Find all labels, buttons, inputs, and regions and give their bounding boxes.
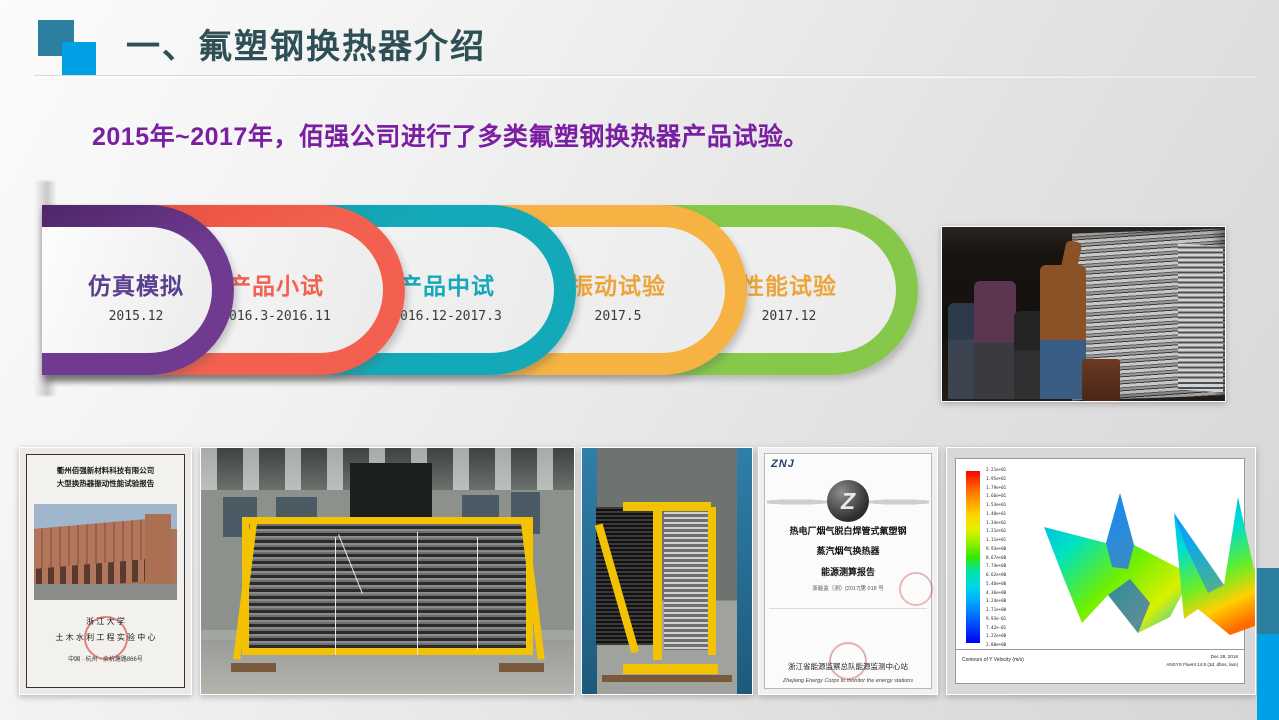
zju-cover-photo	[34, 504, 177, 600]
cfd-surface-right	[1168, 489, 1256, 639]
page-title: 一、氟塑钢换热器介绍	[126, 19, 486, 68]
znj-bottom-cn: 浙江省能源监察总队能源监测中心站	[763, 661, 933, 672]
cfd-colorbar-tick: 9.93e+00	[986, 546, 1032, 551]
cfd-colorbar-tick: 7.74e+00	[986, 563, 1032, 568]
zju-report-title-1: 衢州佰强新材料科技有限公司	[28, 464, 183, 477]
znj-title-1: 热电厂烟气脱白焊管式氟塑钢	[765, 524, 931, 537]
photo-inspection	[941, 226, 1226, 402]
zju-report-title-2: 大型换热器振动性能试验报告	[28, 477, 183, 490]
photo-report-znj-cover: ZNJ Z 热电厂烟气脱白焊管式氟塑钢 蒸汽烟气换热器 能源测算报告 浙能监（测…	[758, 447, 938, 695]
process-timeline: 性能试验2017.12振动试验2017.5产品中试2016.12-2017.3产…	[42, 205, 920, 375]
znj-side-seal-icon	[899, 572, 933, 606]
timeline-stage-date: 2015.12	[50, 309, 222, 324]
cfd-meta-date: Dec 28, 2016	[1166, 653, 1238, 661]
logo-square-light-icon	[62, 42, 96, 76]
znj-logo: ZNJ	[771, 458, 795, 470]
znj-medal-icon: Z	[827, 480, 869, 522]
edge-accent-bottom	[1257, 634, 1279, 720]
cfd-colorbar-tick: 5.46e+00	[986, 581, 1032, 586]
slide-header: 一、氟塑钢换热器介绍	[0, 0, 1279, 86]
znj-title-2: 蒸汽烟气换热器	[765, 544, 931, 557]
cfd-colorbar-tick: 9.93e-01	[986, 616, 1032, 621]
cfd-colorbar-tick: 2.21e+01	[986, 467, 1032, 472]
edge-accent-top	[1257, 568, 1279, 634]
zju-address: 中国 · 杭州 · 余杭塘路866号	[28, 654, 183, 663]
cfd-colorbar-tick: 4.36e+00	[986, 590, 1032, 595]
cfd-meta-solver: ANSYS Fluent 14.5 (3d, dbns, lam)	[1166, 661, 1238, 669]
photo-lab-test-frame	[200, 447, 575, 695]
slide-root: 一、氟塑钢换热器介绍 2015年~2017年，佰强公司进行了多类氟塑钢换热器产品…	[0, 0, 1279, 720]
cfd-colorbar-tick: 1.11e+01	[986, 537, 1032, 542]
cfd-colorbar-tick: 2.71e+00	[986, 607, 1032, 612]
cfd-colorbar-tick: 1.79e+01	[986, 485, 1032, 490]
cfd-colorbar-labels: 2.21e+011.95e+011.79e+011.66e+011.53e+01…	[986, 467, 1032, 647]
cfd-colorbar-tick: 2.00e+00	[986, 642, 1032, 647]
cfd-colorbar-tick: 1.40e+01	[986, 511, 1032, 516]
photo-report-zju-cover: 衢州佰强新材料科技有限公司 大型换热器振动性能试验报告 浙 江 大 学 土 木 …	[19, 447, 192, 695]
photo-cfd-contour: 2.21e+011.95e+011.79e+011.66e+011.53e+01…	[946, 447, 1256, 695]
cfd-colorbar-tick: 7.42e-01	[986, 625, 1032, 630]
cfd-caption: Contours of Y Velocity (m/s)	[962, 657, 1024, 663]
header-divider	[34, 75, 1256, 78]
timeline-stage[interactable]: 仿真模拟2015.12	[42, 205, 234, 375]
cfd-colorbar-tick: 1.21e+01	[986, 528, 1032, 533]
subtitle-text: 2015年~2017年，佰强公司进行了多类氟塑钢换热器产品试验。	[92, 117, 809, 153]
cfd-colorbar-tick: 8.67e+00	[986, 555, 1032, 560]
cfd-colorbar-tick: 1.66e+01	[986, 493, 1032, 498]
cfd-colorbar-tick: 1.22e+00	[986, 633, 1032, 638]
cfd-colorbar-tick: 6.62e+00	[986, 572, 1032, 577]
cfd-colorbar	[966, 471, 980, 643]
znj-bottom-en: Zhejiang Energy Corps to monitor the ene…	[763, 678, 933, 684]
zju-org-line-2: 土 木 水 利 工 程 实 验 中 心	[28, 630, 183, 646]
cfd-colorbar-tick: 1.34e+01	[986, 520, 1032, 525]
zju-org-line-1: 浙 江 大 学	[28, 614, 183, 630]
cfd-colorbar-tick: 1.53e+01	[986, 502, 1032, 507]
timeline-stage-label: 仿真模拟	[50, 267, 222, 301]
photo-vibration-rig	[581, 447, 753, 695]
cfd-colorbar-tick: 3.24e+00	[986, 598, 1032, 603]
cfd-colorbar-tick: 1.95e+01	[986, 476, 1032, 481]
